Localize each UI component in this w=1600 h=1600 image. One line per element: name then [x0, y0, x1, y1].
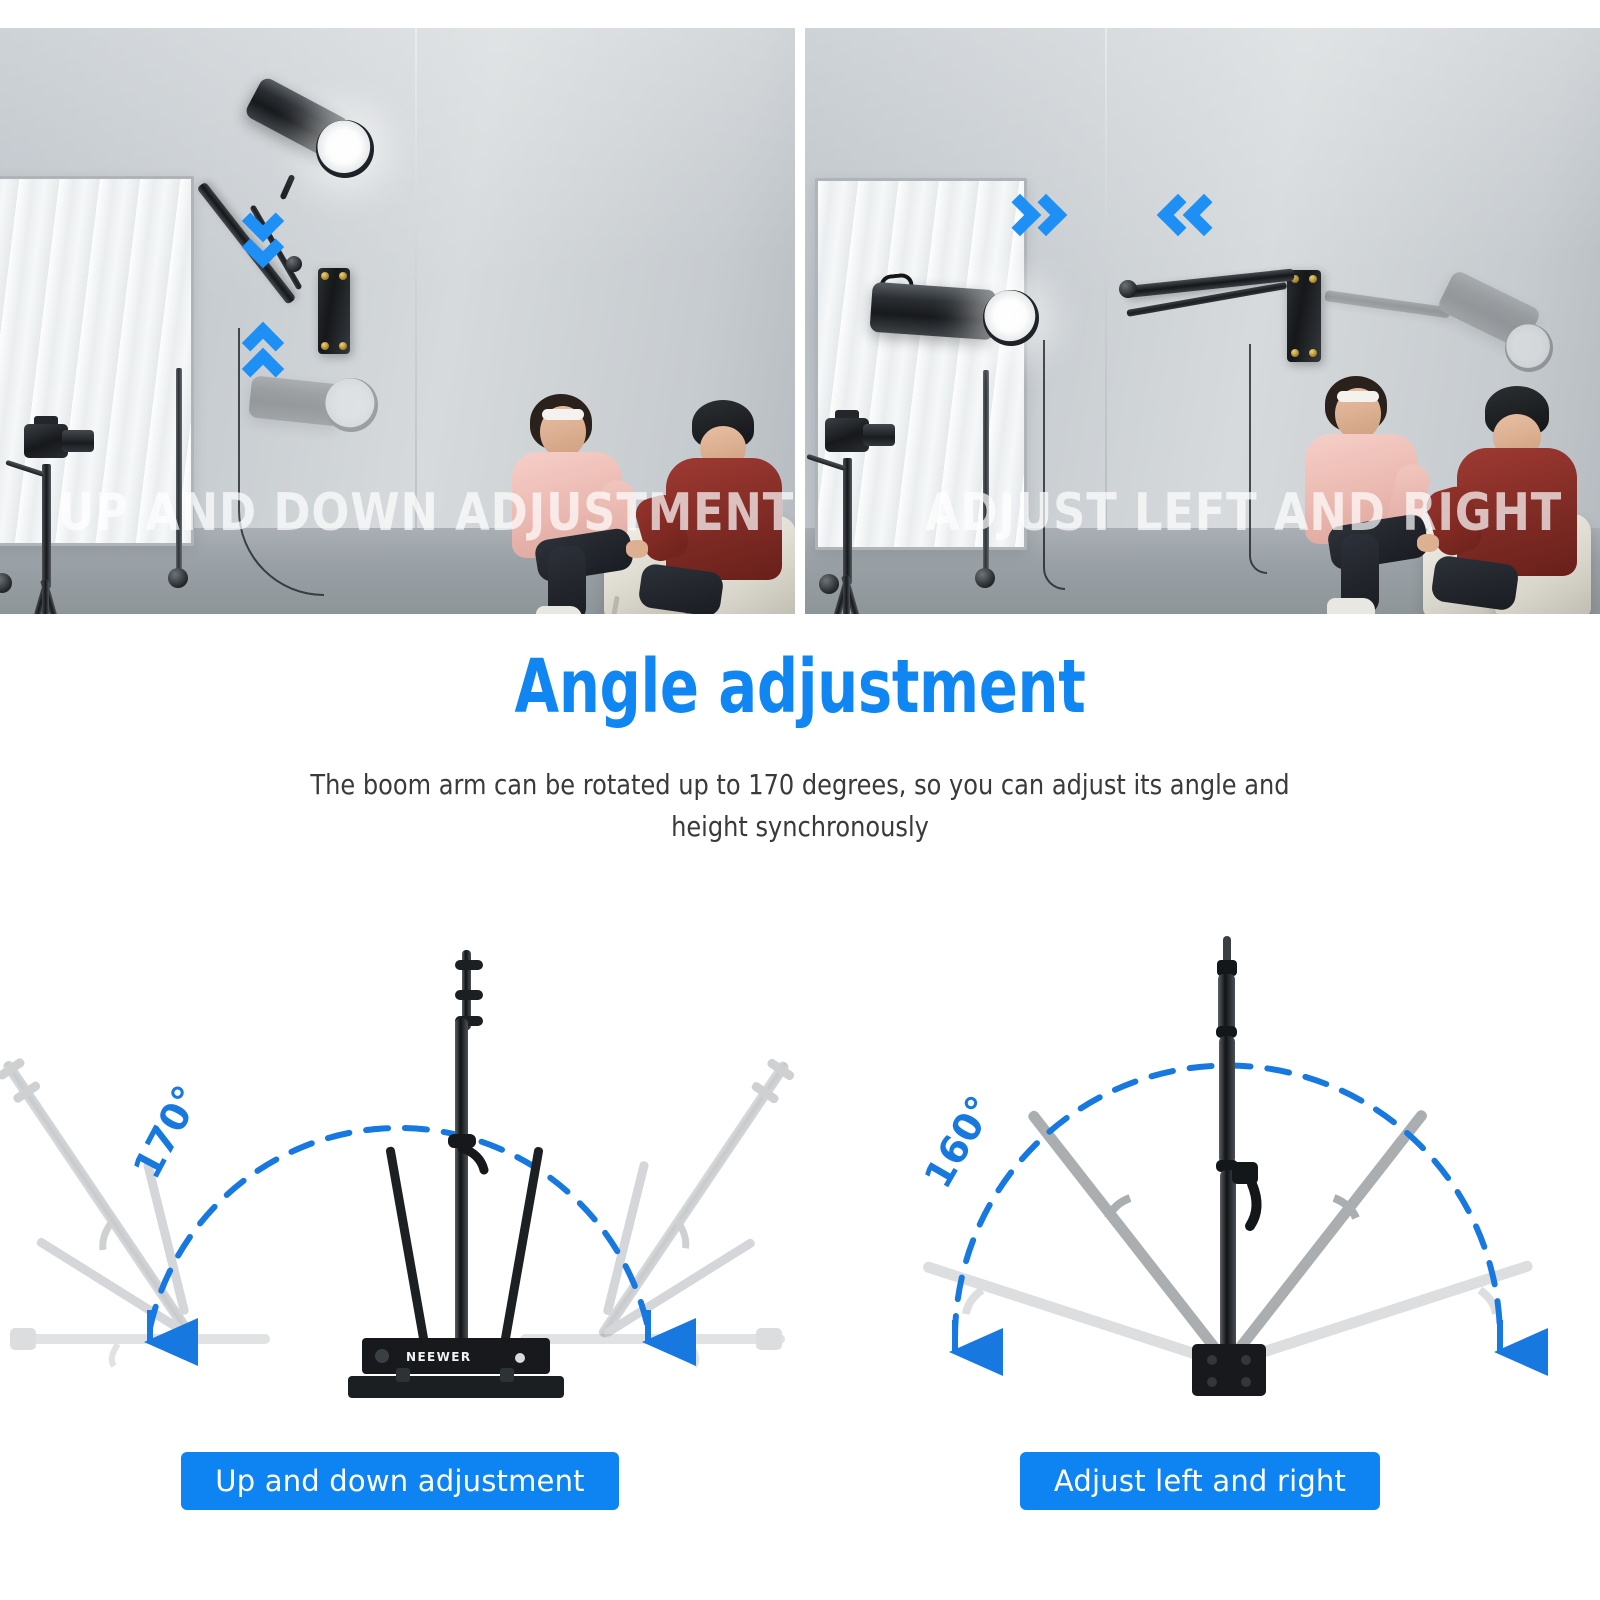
photo-up-and-down: UP AND DOWN ADJUSTMENT [0, 28, 795, 614]
adjust-left-and-right-button[interactable]: Adjust left and right [1020, 1452, 1380, 1510]
mount-bolt [321, 272, 329, 280]
scrim-caster-wheel [975, 568, 995, 588]
up-and-down-adjustment-button[interactable]: Up and down adjustment [181, 1452, 618, 1510]
brand-mark: NEEWER [406, 1350, 472, 1364]
subject-a-shoe [536, 606, 582, 614]
tripod-leg [843, 576, 850, 614]
subject-a-lower-leg [548, 546, 586, 614]
mount-bolt [339, 342, 347, 350]
subject-a-headband [542, 409, 584, 420]
tripod-leg [42, 580, 49, 614]
caption-cell-right: Adjust left and right [800, 1452, 1600, 1522]
main-stand [1216, 936, 1258, 1364]
camera-lens [863, 424, 895, 446]
boom-pivot-knuckle [1119, 280, 1137, 298]
up-down-angle-svg [0, 898, 800, 1408]
diagram-left-and-right: 160° [800, 898, 1600, 1408]
heading-block: Angle adjustment The boom arm can be rot… [0, 648, 1600, 849]
page-subtitle: The boom arm can be rotated up to 170 de… [293, 764, 1308, 849]
subject-b-hand [1417, 534, 1439, 552]
page-title: Angle adjustment [176, 648, 1424, 728]
subject-a-headband [1337, 391, 1379, 402]
caption-cell-left: Up and down adjustment [0, 1452, 800, 1522]
wall-corner [415, 28, 417, 528]
mount-bolt [1309, 275, 1317, 283]
wall-corner [1105, 28, 1107, 528]
diffusion-scrim [0, 176, 194, 546]
ghost-stand-right [597, 1057, 796, 1339]
subject-b-torso [666, 458, 782, 580]
stand-base-plate [1192, 1344, 1266, 1396]
light-reflector-bowl [316, 120, 374, 178]
ghost-stand-flat-left [10, 1328, 270, 1366]
ghost-stand-flat-right [520, 1328, 785, 1366]
rotation-arc [150, 1128, 648, 1328]
diagram-up-and-down: 170° NEEWER [0, 898, 800, 1408]
photo-left-and-right: ADJUST LEFT AND RIGHT [805, 28, 1600, 614]
mount-bolt [1291, 349, 1299, 357]
stand-clamp-lever [1250, 1184, 1257, 1226]
power-cable [1249, 344, 1267, 574]
main-stand [385, 950, 543, 1348]
light-head-barrel [869, 282, 996, 341]
subject-b-hand [626, 540, 648, 558]
caption-row: Up and down adjustment Adjust left and r… [0, 1452, 1600, 1522]
tripod-center-column [42, 464, 51, 588]
light-reflector-bowl [983, 290, 1039, 346]
camera-lens [62, 430, 94, 452]
mount-bolt [1309, 349, 1317, 357]
scrim-stand-leg [983, 370, 989, 578]
stand-base-plate [348, 1338, 564, 1398]
diagram-row: 170° NEEWER [0, 898, 1600, 1408]
photo-strip: UP AND DOWN ADJUSTMENT [0, 28, 1600, 614]
scrim-stand-leg [176, 368, 182, 578]
scrim-caster-wheel [168, 568, 188, 588]
power-cable [1043, 340, 1065, 590]
subject-a-shoe [1327, 598, 1375, 614]
wall-mount-plate [1287, 270, 1321, 362]
left-right-angle-svg [800, 898, 1600, 1408]
scrim-caster-wheel [819, 574, 839, 594]
boom-pivot-knuckle [286, 256, 302, 272]
product-feature-page: UP AND DOWN ADJUSTMENT [0, 0, 1600, 1600]
tripod-center-column [843, 458, 852, 584]
mount-bolt [339, 272, 347, 280]
